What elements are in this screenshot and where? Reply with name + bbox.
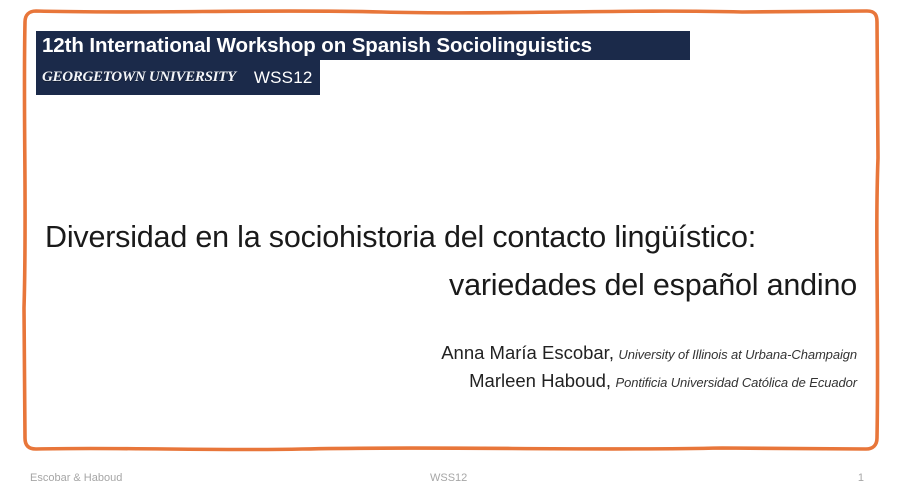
- author-affiliation: Pontificia Universidad Católica de Ecuad…: [616, 375, 858, 390]
- author-name: Marleen Haboud,: [469, 370, 611, 391]
- author-affiliation: University of Illinois at Urbana-Champai…: [618, 347, 857, 362]
- title-line-1: Diversidad en la sociohistoria del conta…: [45, 213, 857, 261]
- author-name: Anna María Escobar,: [441, 342, 614, 363]
- university-logo-bar: GEORGETOWN UNIVERSITY WSS12: [36, 60, 320, 95]
- georgetown-wordmark: GEORGETOWN UNIVERSITY: [42, 69, 236, 86]
- slide-footer: Escobar & Haboud WSS12 1: [0, 455, 902, 503]
- author-row: Anna María Escobar, University of Illino…: [45, 340, 857, 368]
- event-abbreviation-label: WSS12: [254, 68, 313, 88]
- slide-title: Diversidad en la sociohistoria del conta…: [45, 213, 857, 309]
- author-row: Marleen Haboud, Pontificia Universidad C…: [45, 368, 857, 396]
- footer-page-number: 1: [858, 472, 864, 484]
- title-line-2: variedades del español andino: [45, 261, 857, 309]
- presentation-slide: 12th International Workshop on Spanish S…: [0, 0, 902, 455]
- workshop-title-bar: 12th International Workshop on Spanish S…: [36, 31, 690, 60]
- author-list: Anna María Escobar, University of Illino…: [45, 340, 857, 396]
- workshop-title-text: 12th International Workshop on Spanish S…: [42, 34, 592, 58]
- footer-authors-label: Escobar & Haboud: [30, 472, 122, 484]
- footer-event-label: WSS12: [430, 472, 467, 484]
